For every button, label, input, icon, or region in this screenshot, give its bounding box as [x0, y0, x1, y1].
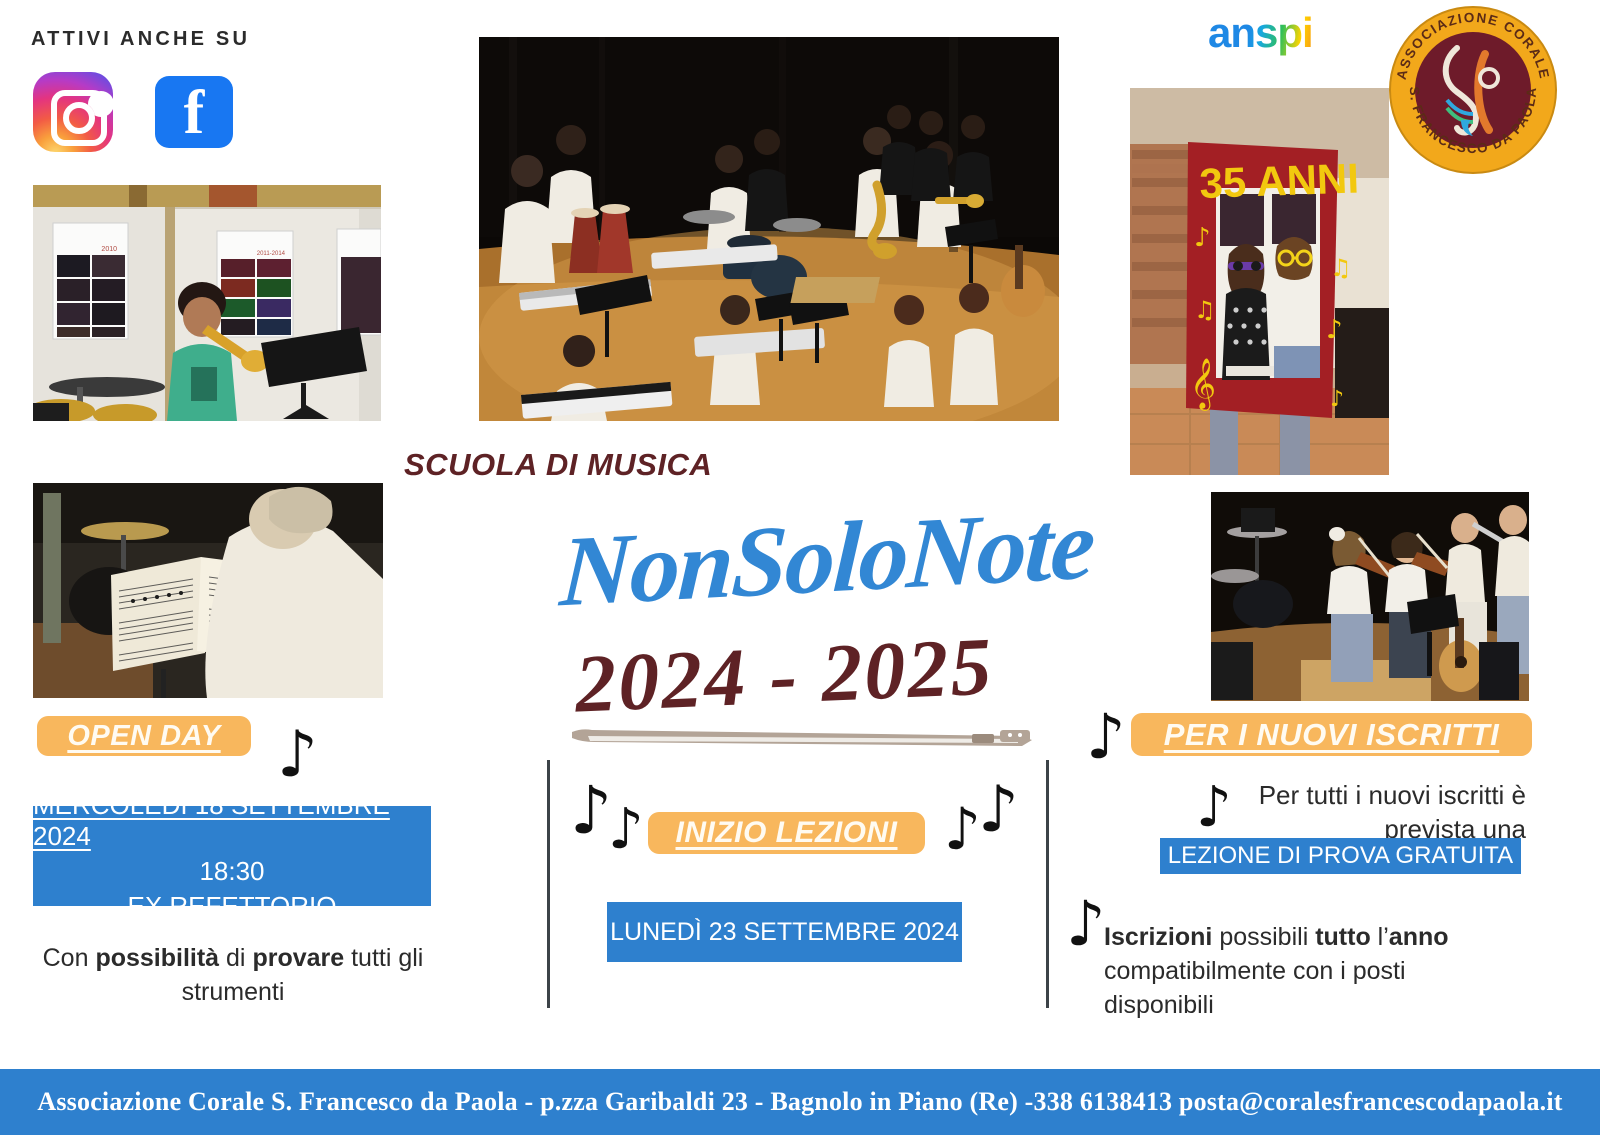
music-note-icon-right-1: ♪: [1086, 706, 1126, 768]
poster-root: ATTIVI ANCHE SU f anspi ASSOCIAZIONE COR…: [0, 0, 1600, 1135]
iscrizioni-text1: possibili: [1212, 923, 1315, 951]
footer-contact-text: Associazione Corale S. Francesco da Paol…: [37, 1087, 1562, 1117]
social-heading: ATTIVI ANCHE SU: [31, 28, 250, 51]
season-years: 2024 - 2025: [573, 610, 1017, 739]
inizio-lezioni-date: LUNEDÌ 23 SETTEMBRE 2024: [610, 918, 959, 947]
inizio-lezioni-date-box: LUNEDÌ 23 SETTEMBRE 2024: [607, 902, 962, 962]
violin-bow-graphic: [570, 726, 1035, 750]
badge-inizio-lezioni-label: INIZIO LEZIONI: [676, 816, 898, 850]
footer-bar: Associazione Corale S. Francesco da Paol…: [0, 1069, 1600, 1135]
openday-note-part1: Con: [43, 944, 96, 972]
music-note-icon-center-1: ♪: [570, 778, 612, 844]
divider-left-center: [547, 760, 550, 1008]
svg-text:♫: ♫: [1194, 296, 1216, 324]
svg-text:35 ANNI: 35 ANNI: [1199, 154, 1360, 207]
lezione-prova-gratuita-label: LEZIONE DI PROVA GRATUITA: [1168, 842, 1513, 870]
nuovi-iscritti-intro: Per tutti i nuovi iscritti è prevista un…: [1160, 778, 1526, 846]
openday-note-part2: di: [219, 944, 252, 972]
anspi-logo-text: anspi: [1208, 10, 1368, 56]
openday-date: MERCOLEDÌ 18 SETTEMBRE 2024: [33, 790, 431, 852]
photo-children-violins: [1211, 492, 1529, 701]
photo-boy-trumpet-exhibition: 2010 2011-2014: [33, 185, 381, 421]
music-note-icon-center-3: ♪: [944, 800, 981, 858]
associazione-corale-logo: ASSOCIAZIONE CORALE S. FRANCESCO DA PAOL…: [1389, 6, 1557, 174]
iscrizioni-bold3: anno: [1389, 923, 1449, 951]
iscrizioni-text: Iscrizioni possibili tutto l’anno compat…: [1104, 920, 1504, 1022]
openday-place: EX REFETTORIO: [128, 891, 337, 922]
svg-text:♪: ♪: [1330, 387, 1344, 412]
badge-open-day-label: OPEN DAY: [67, 720, 220, 753]
svg-text:♪: ♪: [1326, 315, 1343, 345]
svg-text:♪: ♪: [1194, 223, 1211, 253]
svg-text:♫: ♫: [1330, 254, 1352, 282]
divider-center-right: [1046, 760, 1049, 1008]
music-note-icon-center-2: ♪: [608, 802, 644, 858]
openday-details-box: MERCOLEDÌ 18 SETTEMBRE 2024 18:30 EX REF…: [33, 806, 431, 906]
badge-per-i-nuovi-iscritti[interactable]: PER I NUOVI ISCRITTI: [1131, 713, 1532, 756]
iscrizioni-text3: compatibilmente con i posti disponibili: [1104, 957, 1406, 1019]
badge-inizio-lezioni[interactable]: INIZIO LEZIONI: [648, 812, 925, 854]
nuovi-iscritti-intro-line1: Per tutti i nuovi iscritti è: [1160, 778, 1526, 812]
music-note-icon-right-3: ♪: [1066, 893, 1106, 955]
photo-35-anni-frame: 35 ANNI ♪ ♫ 𝄞 ♫ ♪ ♪: [1130, 88, 1389, 475]
logo-clef-emblem: [1427, 40, 1519, 140]
openday-note-text: Con possibilità di provare tutti gli str…: [33, 941, 433, 1009]
badge-open-day[interactable]: OPEN DAY: [37, 716, 251, 756]
anspi-logo: anspi: [1208, 10, 1368, 56]
iscrizioni-bold2: tutto: [1315, 923, 1371, 951]
photo-stage-band-concert: [479, 37, 1059, 421]
photo-sheet-music-stand: [33, 483, 383, 698]
openday-time: 18:30: [199, 856, 264, 887]
music-note-icon-openday: ♪: [277, 723, 318, 787]
facebook-icon[interactable]: f: [155, 76, 233, 148]
facebook-glyph: f: [155, 82, 233, 144]
instagram-icon[interactable]: [33, 72, 113, 152]
openday-note-bold1: possibilità: [95, 944, 219, 972]
eyebrow-scuola-di-musica: SCUOLA DI MUSICA: [404, 447, 712, 483]
iscrizioni-text2: l’: [1371, 923, 1389, 951]
music-note-icon-center-4: ♪: [978, 778, 1019, 842]
svg-text:2010: 2010: [101, 246, 117, 253]
svg-text:𝄞: 𝄞: [1190, 358, 1216, 411]
badge-per-i-nuovi-iscritti-label: PER I NUOVI ISCRITTI: [1164, 717, 1500, 753]
openday-note-bold2: provare: [252, 944, 344, 972]
lezione-prova-gratuita-box: LEZIONE DI PROVA GRATUITA: [1160, 838, 1521, 874]
iscrizioni-bold1: Iscrizioni: [1104, 923, 1212, 951]
svg-text:2011-2014: 2011-2014: [257, 251, 286, 257]
